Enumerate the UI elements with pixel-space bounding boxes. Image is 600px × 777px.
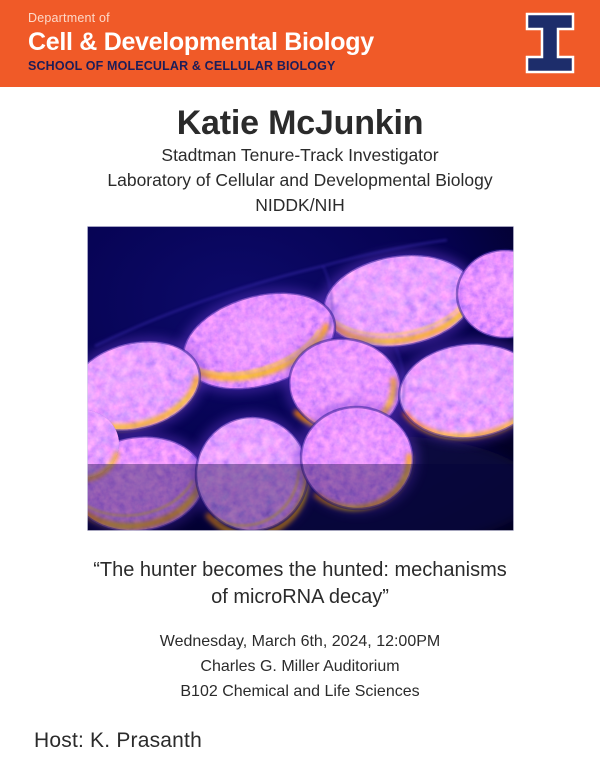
- host-label: Host: K. Prasanth: [34, 729, 600, 753]
- figure-container: [0, 226, 600, 531]
- department-prefix: Department of: [28, 10, 374, 26]
- speaker-affiliation-line-1: Stadtman Tenure-Track Investigator: [0, 143, 600, 168]
- event-details: Wednesday, March 6th, 2024, 12:00PM Char…: [0, 629, 600, 704]
- illinois-block-i-icon: [525, 12, 575, 74]
- department-name: Cell & Developmental Biology: [28, 27, 374, 57]
- event-venue: Charles G. Miller Auditorium: [0, 654, 600, 679]
- event-building: B102 Chemical and Life Sciences: [0, 679, 600, 704]
- fluorescence-micrograph-embryos: [87, 226, 514, 531]
- talk-title-line-2: of microRNA decay”: [211, 586, 389, 608]
- header-banner: Department of Cell & Developmental Biolo…: [0, 0, 600, 87]
- school-name: SCHOOL OF MOLECULAR & CELLULAR BIOLOGY: [28, 59, 374, 74]
- talk-title: “The hunter becomes the hunted: mechanis…: [40, 557, 560, 611]
- event-datetime: Wednesday, March 6th, 2024, 12:00PM: [0, 629, 600, 654]
- speaker-affiliation-line-3: NIDDK/NIH: [0, 193, 600, 218]
- talk-title-line-1: “The hunter becomes the hunted: mechanis…: [93, 559, 507, 581]
- speaker-block: Katie McJunkin Stadtman Tenure-Track Inv…: [0, 103, 600, 218]
- banner-text-group: Department of Cell & Developmental Biolo…: [28, 10, 374, 74]
- speaker-affiliation-line-2: Laboratory of Cellular and Developmental…: [0, 168, 600, 193]
- speaker-name: Katie McJunkin: [0, 103, 600, 143]
